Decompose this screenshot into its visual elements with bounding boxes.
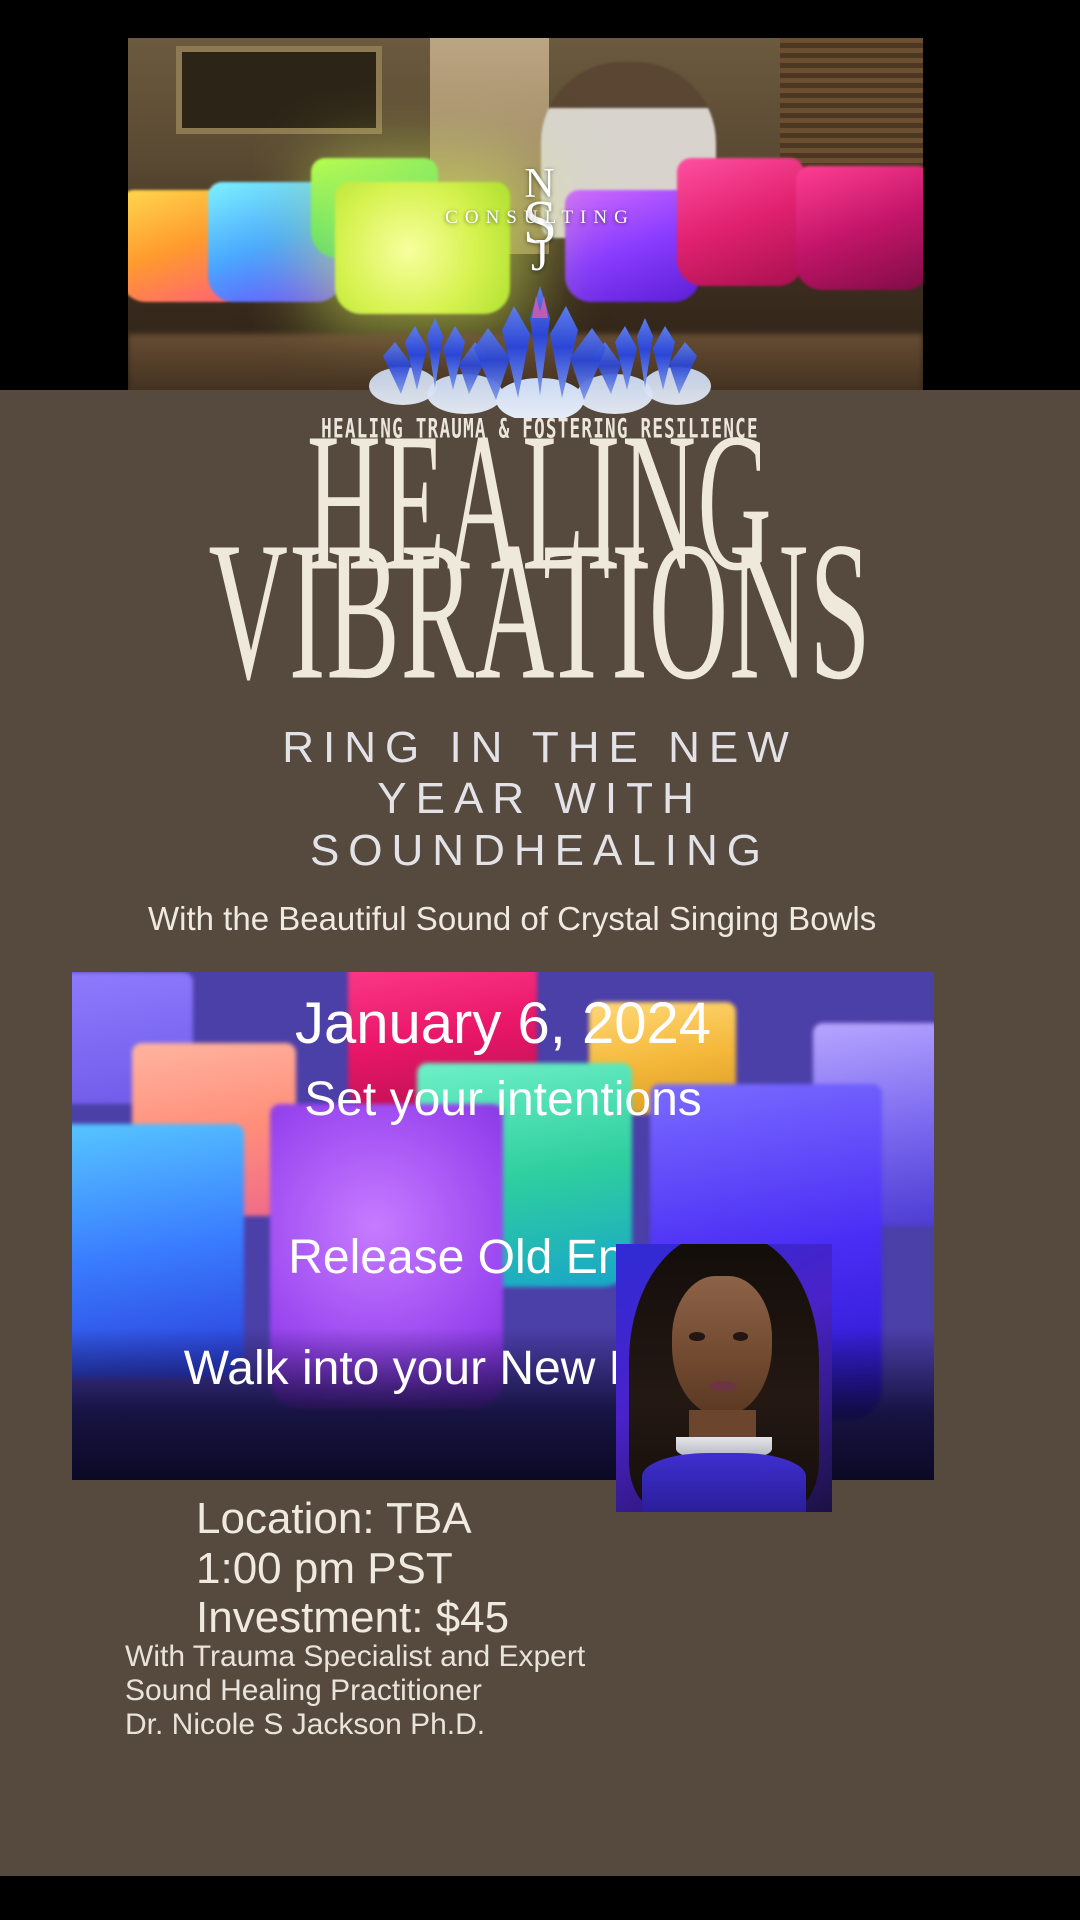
face [672,1276,771,1415]
credit-line-1: With Trauma Specialist and Expert [125,1640,745,1674]
glowing-bowl [677,158,804,286]
hero-photo-singing-bowls [128,38,923,438]
left-eye [689,1332,704,1341]
detail-location: Location: TBA [196,1494,756,1544]
glowing-bowl-center [335,182,510,314]
event-details: Location: TBA 1:00 pm PST Investment: $4… [196,1494,756,1643]
headline-line-2: VIBRATIONS [76,538,1005,685]
glowing-bowl [796,166,923,290]
credit-line-2: Sound Healing Practitioner [125,1674,745,1708]
credit-line-3: Dr. Nicole S Jackson Ph.D. [125,1708,745,1742]
subtitle-line-1: RING IN THE NEW [0,722,1080,773]
presenter-portrait-photo [616,1244,832,1512]
page-title: HEALING VIBRATIONS [0,455,1080,658]
promise-set-intentions: Set your intentions [72,1072,934,1127]
subtitle-line-2: YEAR WITH [0,773,1080,824]
wall-picture-frame [176,46,383,134]
subtitle-line-3: SOUNDHEALING [0,825,1080,876]
event-description: With the Beautiful Sound of Crystal Sing… [148,900,938,939]
detail-time: 1:00 pm PST [196,1544,756,1594]
detail-price: Investment: $45 [196,1593,756,1643]
event-subtitle: RING IN THE NEW YEAR WITH SOUNDHEALING [0,722,1080,876]
event-date: January 6, 2024 [72,990,934,1057]
event-flyer: N S J CONSULTING [0,0,1080,1920]
presenter-credits: With Trauma Specialist and Expert Sound … [125,1640,745,1742]
right-eye [733,1332,748,1341]
